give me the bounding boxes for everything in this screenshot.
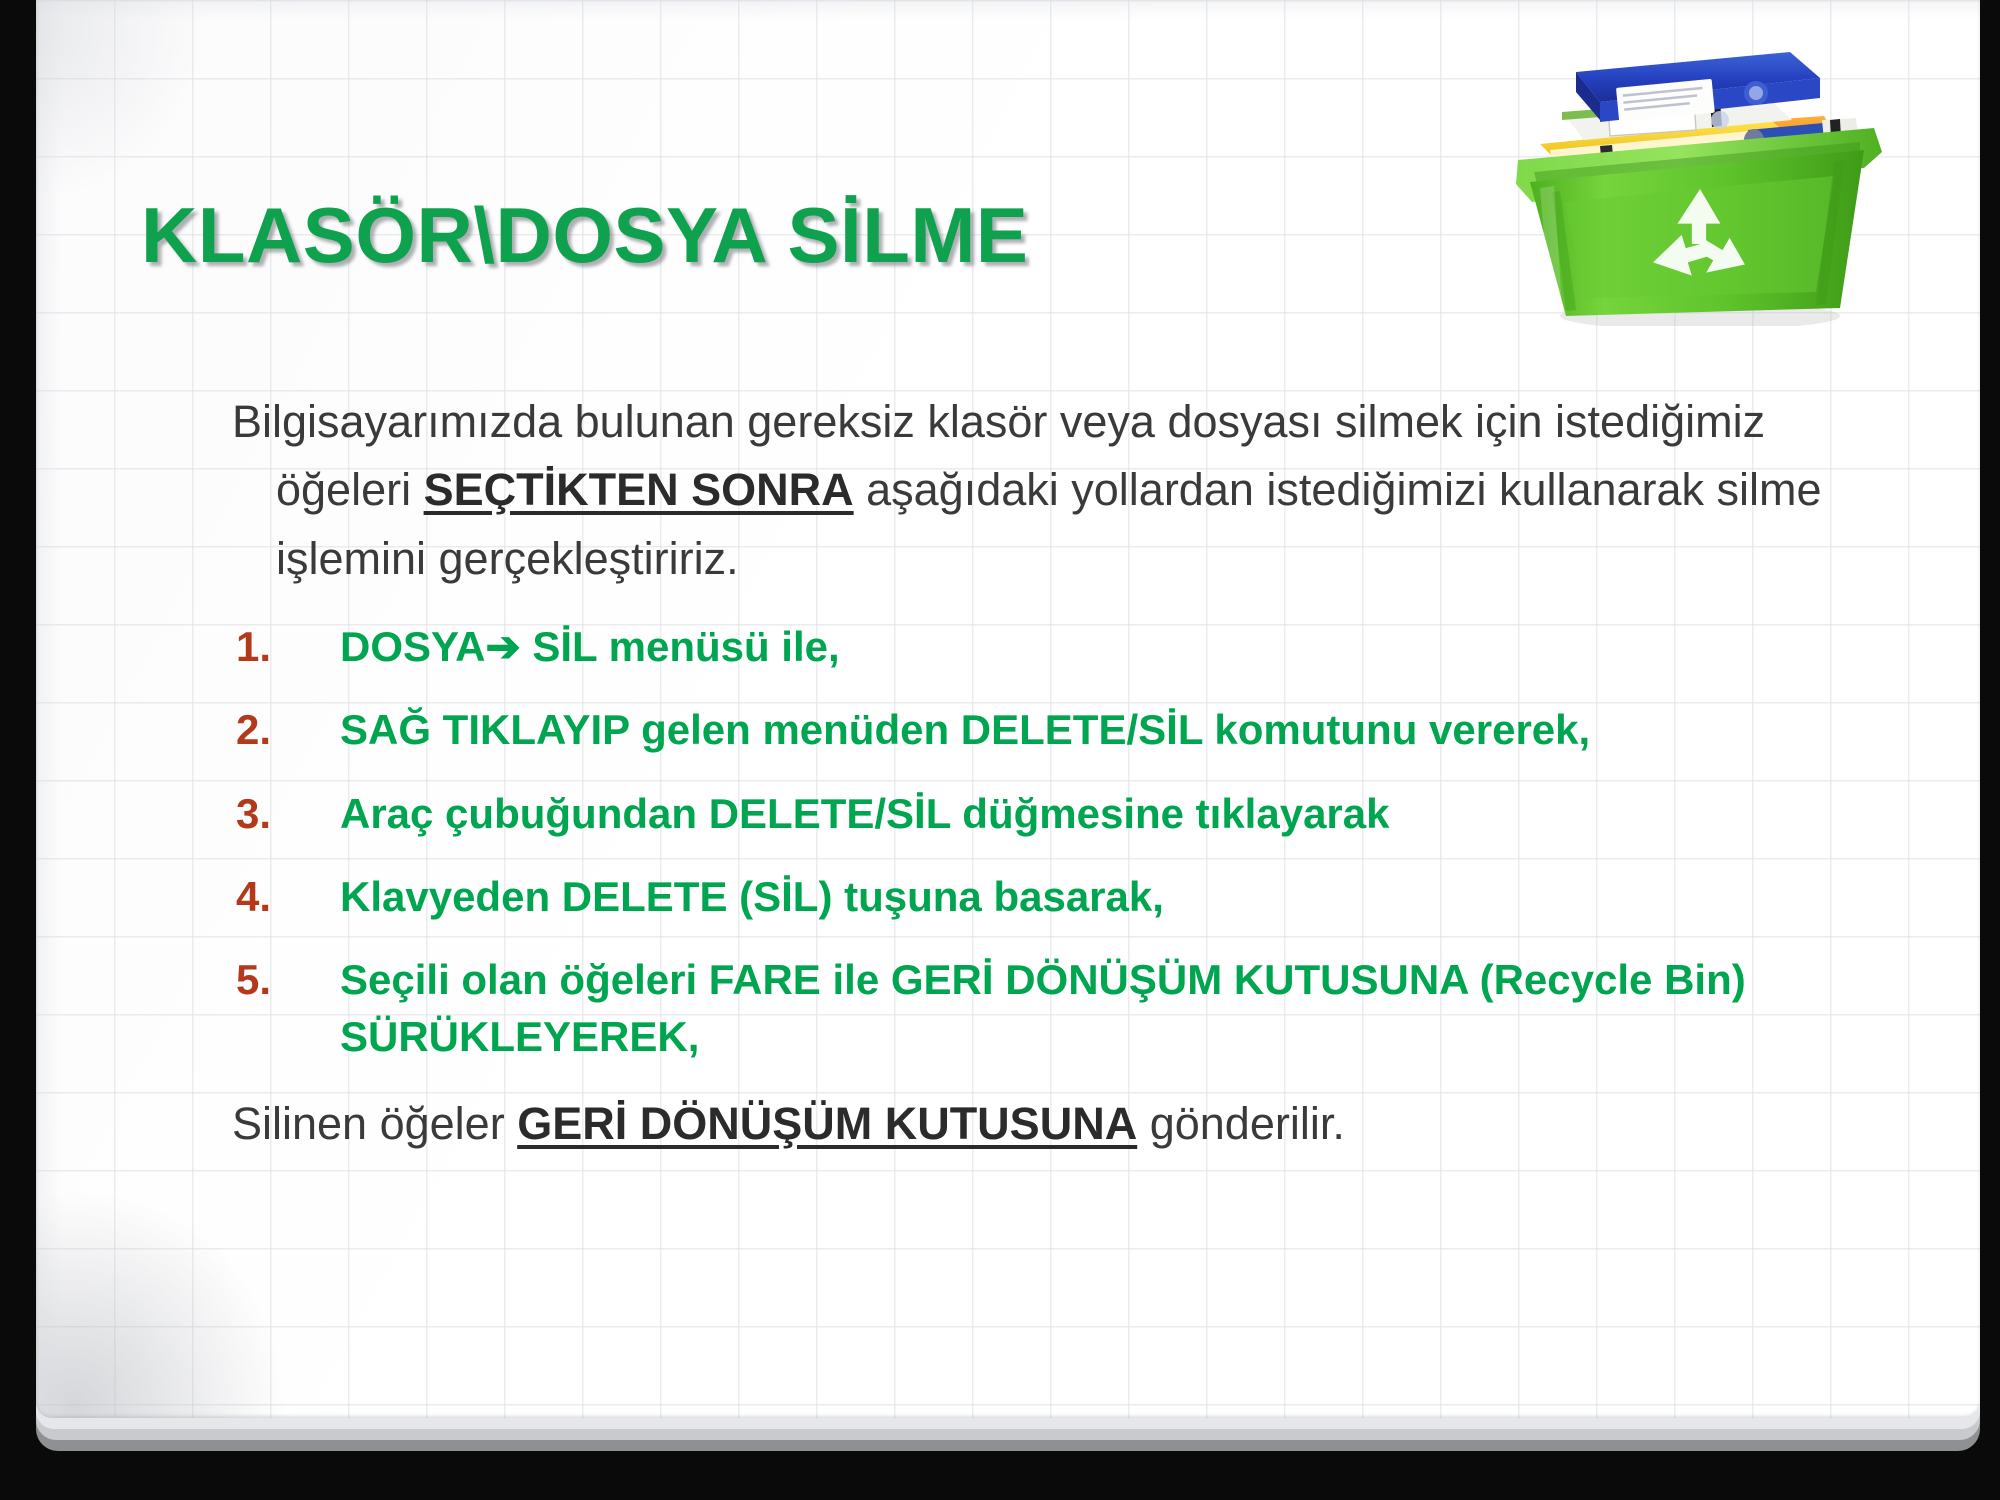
slide-frame: KLASÖR\DOSYA SİLME (0, 0, 2000, 1500)
list-item-text: Araç çubuğundan DELETE/SİL düğmesine tık… (340, 786, 1390, 842)
list-item-text: SAĞ TIKLAYIP gelen menüden DELETE/SİL ko… (340, 702, 1590, 758)
page-title: KLASÖR\DOSYA SİLME (141, 190, 1028, 281)
list-item-text: DOSYA➔ SİL menüsü ile, (340, 619, 840, 675)
list-item-number: 5. (232, 952, 340, 1008)
slide-canvas: KLASÖR\DOSYA SİLME (36, 0, 1980, 1418)
intro-paragraph: Bilgisayarımızda bulunan gereksiz klasör… (232, 388, 1872, 593)
list-item: 3.Araç çubuğundan DELETE/SİL düğmesine t… (232, 786, 1872, 842)
slide-body: Bilgisayarımızda bulunan gereksiz klasör… (232, 388, 1872, 1155)
closing-emphasis: GERİ DÖNÜŞÜM KUTUSUNA (517, 1098, 1137, 1149)
recycle-bin-illustration (1504, 16, 1888, 326)
list-item-number: 1. (232, 619, 340, 675)
list-item: 4.Klavyeden DELETE (SİL) tuşuna basarak, (232, 869, 1872, 925)
list-item: 5.Seçili olan öğeleri FARE ile GERİ DÖNÜ… (232, 952, 1872, 1065)
intro-emphasis: SEÇTİKTEN SONRA (424, 464, 854, 515)
steps-list: 1.DOSYA➔ SİL menüsü ile,2.SAĞ TIKLAYIP g… (232, 619, 1872, 1065)
closing-part2: gönderilir. (1137, 1098, 1345, 1149)
list-item-text: Seçili olan öğeleri FARE ile GERİ DÖNÜŞÜ… (340, 952, 1872, 1065)
closing-part1: Silinen öğeler (232, 1098, 517, 1149)
list-item-number: 3. (232, 786, 340, 842)
list-item-number: 2. (232, 702, 340, 758)
list-item-number: 4. (232, 869, 340, 925)
closing-paragraph: Silinen öğeler GERİ DÖNÜŞÜM KUTUSUNA gön… (232, 1092, 1872, 1155)
list-item-text: Klavyeden DELETE (SİL) tuşuna basarak, (340, 869, 1164, 925)
list-item: 2.SAĞ TIKLAYIP gelen menüden DELETE/SİL … (232, 702, 1872, 758)
list-item: 1.DOSYA➔ SİL menüsü ile, (232, 619, 1872, 675)
